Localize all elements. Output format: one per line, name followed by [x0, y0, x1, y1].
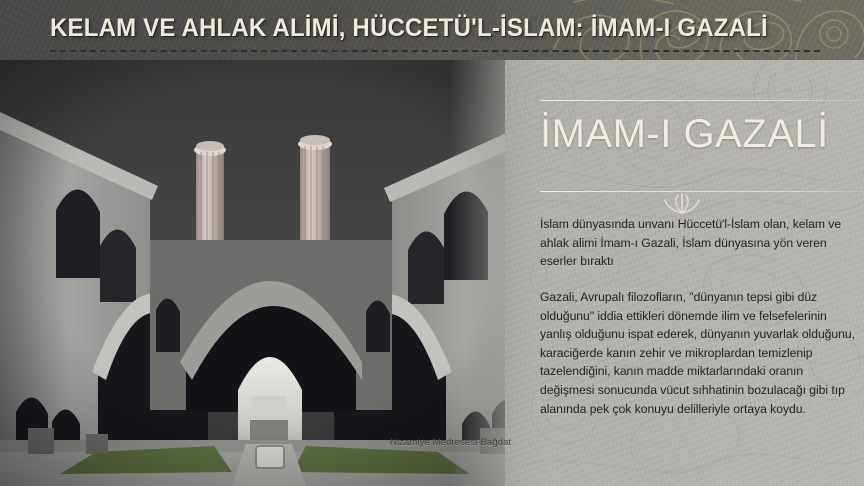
page-title: KELAM VE AHLAK ALİMİ, HÜCCETÜ'L-İSLAM: İ…: [50, 14, 768, 43]
content-panel: İMAM-I GAZALİ İslam dünyasında unvanı Hü…: [505, 60, 864, 486]
title-rule-bottom: [540, 191, 864, 192]
header-divider: [50, 50, 820, 52]
article-paragraph-1: İslam dünyasında unvanı Hüccetü'l-İslam …: [540, 215, 858, 271]
madrasa-photo: [0, 60, 540, 486]
infographic-root: KELAM VE AHLAK ALİMİ, HÜCCETÜ'L-İSLAM: İ…: [0, 0, 864, 486]
madrasa-illustration: [0, 60, 540, 486]
article-paragraph-2: Gazali, Avrupalı filozofların, "dünyanın…: [540, 288, 858, 418]
photo-caption: Nizamiye Medresesi-Bağdat: [390, 437, 511, 448]
article-title: İMAM-I GAZALİ: [540, 112, 829, 157]
title-rule-top: [540, 100, 864, 101]
header-bar: KELAM VE AHLAK ALİMİ, HÜCCETÜ'L-İSLAM: İ…: [0, 0, 864, 60]
floral-ornament-icon: [660, 193, 704, 215]
